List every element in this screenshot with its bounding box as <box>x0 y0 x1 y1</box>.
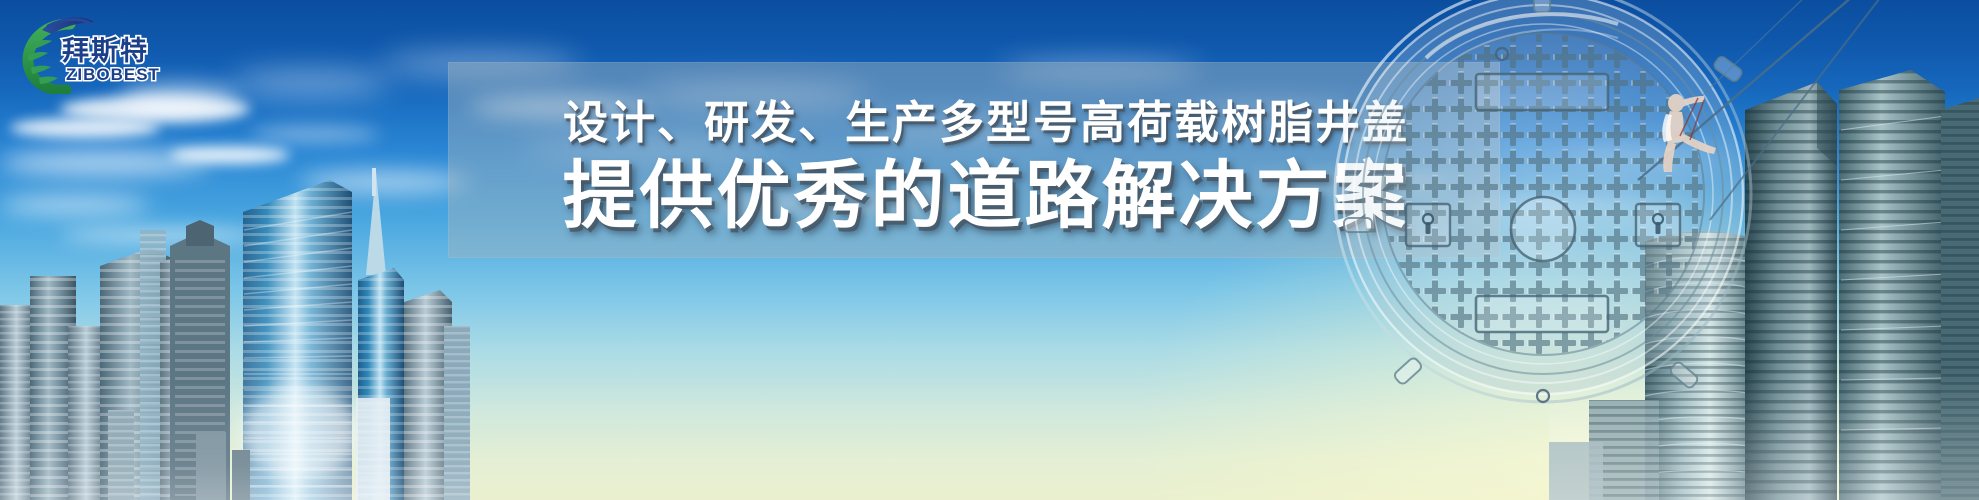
site-logo[interactable]: 拜斯特 ZIBOBEST <box>8 8 188 94</box>
cityscape-left <box>0 80 470 500</box>
cable-lines <box>1560 0 1979 330</box>
promo-banner: 设计、研发、生产多型号高荷载树脂井盖 提供优秀的道路解决方案 <box>0 0 1979 500</box>
headline-block: 设计、研发、生产多型号高荷载树脂井盖 提供优秀的道路解决方案 <box>448 62 1500 258</box>
logo-chinese-text: 拜斯特 <box>62 36 149 67</box>
headline-line-1: 设计、研发、生产多型号高荷载树脂井盖 <box>563 86 1409 151</box>
logo-english-text: ZIBOBEST <box>66 65 160 84</box>
climber-figure <box>1650 90 1722 176</box>
headline-line-2: 提供优秀的道路解决方案 <box>563 157 1410 235</box>
